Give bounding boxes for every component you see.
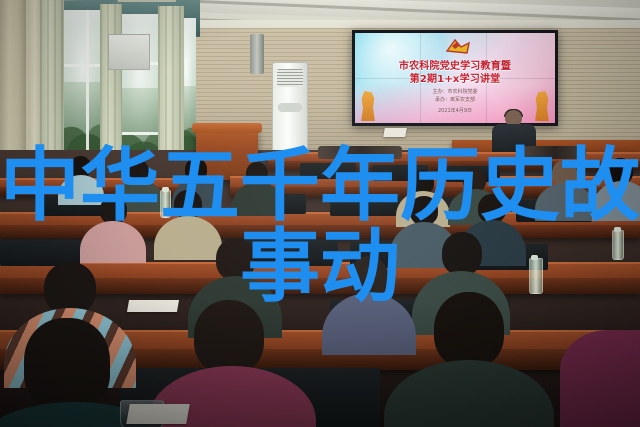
water-bottle-icon <box>529 258 543 294</box>
water-bottle-icon <box>160 190 171 218</box>
attendee-foreground <box>398 292 538 427</box>
podium-top <box>192 123 262 133</box>
attendee-body <box>560 330 640 427</box>
attendee-body <box>384 360 554 427</box>
party-emblem-icon <box>443 37 473 59</box>
attendee <box>330 256 408 350</box>
attendee <box>540 160 588 214</box>
attendee-head <box>350 256 388 297</box>
paper-sheet-icon <box>383 128 407 137</box>
attendee-head <box>194 300 264 374</box>
water-bottle-icon <box>612 230 624 260</box>
attendee-head <box>100 196 127 224</box>
open-notebook-icon <box>126 404 190 424</box>
wall-speaker-icon <box>250 34 264 74</box>
seat-back <box>330 196 400 216</box>
screen-organizer-label: 承办：离军农支部 <box>355 96 555 103</box>
attendee-head <box>216 238 255 280</box>
attendee <box>60 156 100 200</box>
ac-grill <box>277 69 303 87</box>
air-conditioner-icon <box>272 62 308 160</box>
attendee-body <box>232 182 284 216</box>
attendee <box>598 158 640 214</box>
attendee-body <box>592 181 640 221</box>
attendee-head <box>174 190 202 219</box>
attendee-head <box>478 194 506 223</box>
attendee-head <box>24 318 110 410</box>
window-mullion <box>86 10 89 170</box>
attendee-head <box>410 196 438 225</box>
seat-back <box>300 163 356 179</box>
screen-host-label: 主办：市农科院党委 <box>355 88 555 95</box>
microphone-row <box>524 146 586 159</box>
screen-title-line-2: 第2期1+x学习讲堂 <box>355 70 555 85</box>
ceiling-projector-icon <box>108 34 150 70</box>
microphone-row <box>318 146 402 159</box>
attendee <box>236 162 278 210</box>
attendee-head <box>442 232 482 275</box>
attendee-head <box>44 262 96 314</box>
attendee <box>86 196 140 256</box>
open-notebook-icon <box>127 300 179 312</box>
photo-canvas: 市农科院党史学习教育暨 第2期1+x学习讲堂 主办：市农科院党委 承办：离军农支… <box>0 0 640 427</box>
attendee-body <box>80 221 146 263</box>
attendee-foreground <box>560 330 640 427</box>
attendee-head <box>434 292 504 368</box>
attendee-body <box>535 183 595 221</box>
ac-panel <box>278 103 302 112</box>
